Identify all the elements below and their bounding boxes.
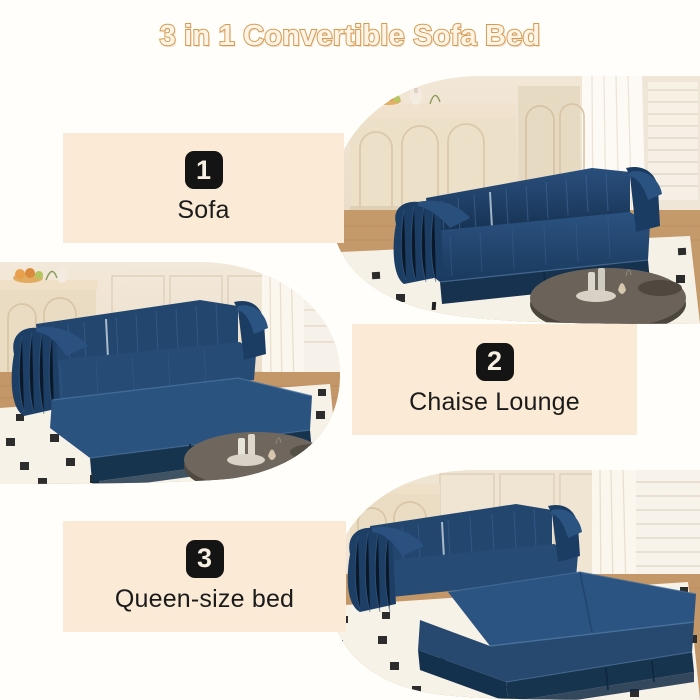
chaise-lounge-photo (0, 262, 340, 484)
title-bar: 3 in 1 Convertible Sofa Bed (0, 0, 700, 72)
product-infographic: 3 in 1 Convertible Sofa Bed (0, 0, 700, 700)
queen-bed-photo (330, 470, 700, 700)
mode-label-chaise-lounge: Chaise Lounge (409, 388, 580, 417)
mode-label-sofa: Sofa (177, 196, 229, 225)
step-badge-3: 3 (186, 540, 224, 578)
step-badge-1: 1 (185, 151, 223, 189)
mode-panel-sofa: 1 Sofa (63, 133, 344, 243)
mode-label-queen-bed: Queen-size bed (115, 585, 294, 614)
sofa-photo (330, 76, 700, 324)
step-badge-2: 2 (476, 343, 514, 381)
mode-panel-chaise-lounge: 2 Chaise Lounge (352, 324, 637, 435)
page-title: 3 in 1 Convertible Sofa Bed (160, 20, 541, 53)
mode-panel-queen-bed: 3 Queen-size bed (63, 521, 346, 632)
